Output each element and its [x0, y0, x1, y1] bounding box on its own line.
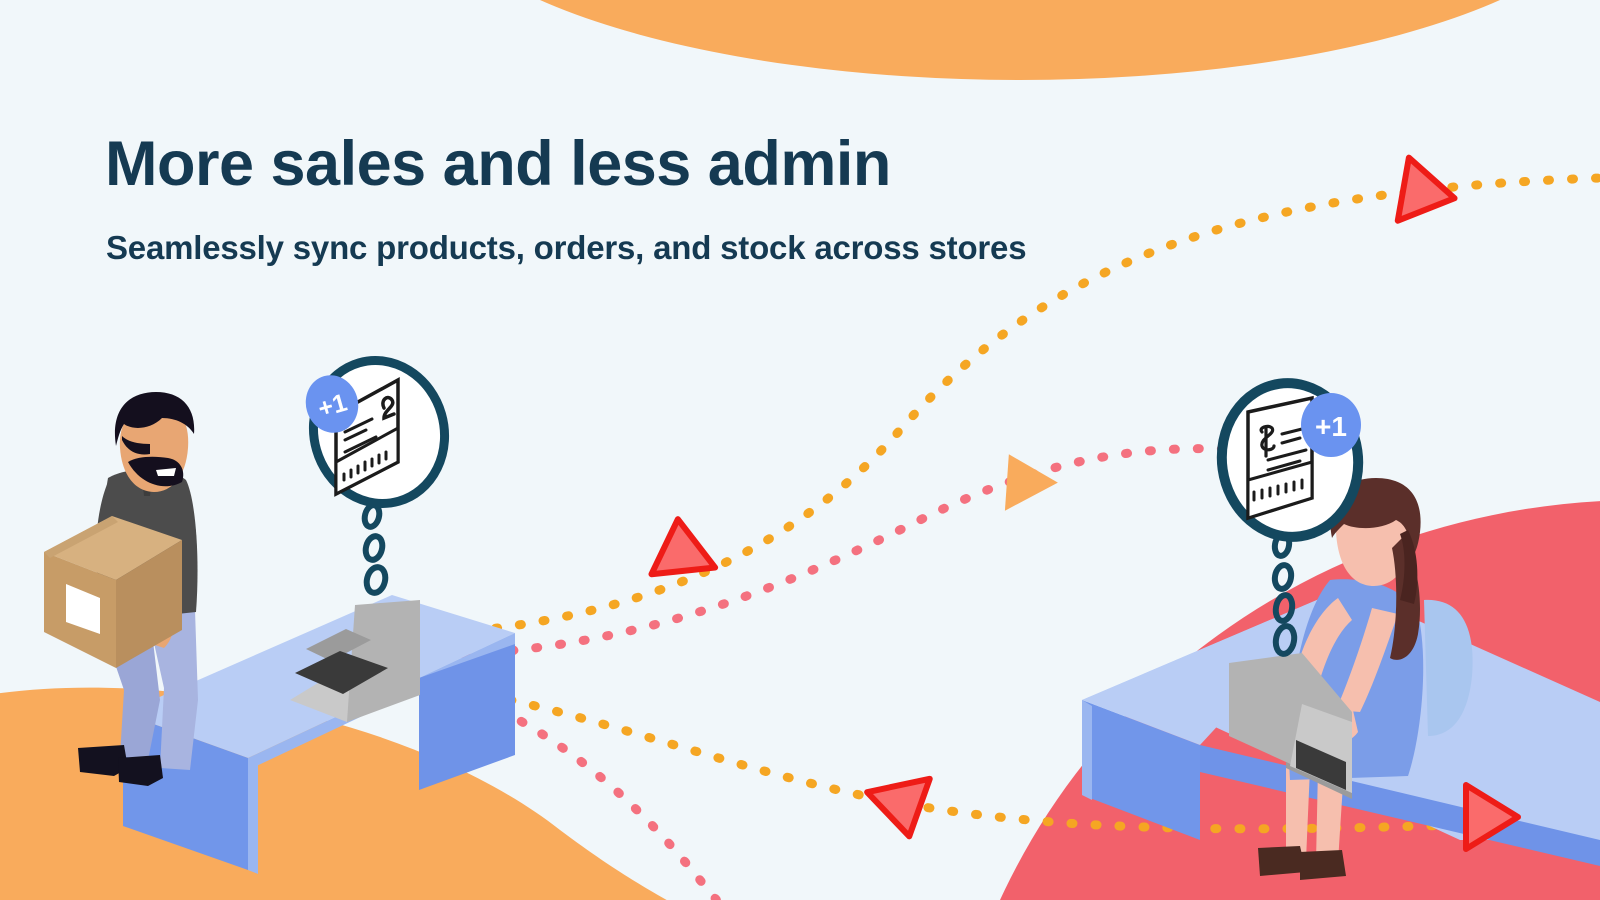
badge-plus-one-right-label: +1 — [1315, 411, 1347, 442]
woman-shoe-back — [1258, 846, 1306, 876]
desk-right-leg-side — [1082, 700, 1092, 800]
hero-illustration: +1 — [0, 0, 1600, 900]
illustration-canvas: +1 — [0, 0, 1600, 900]
man-shoe-front — [118, 755, 163, 786]
desk-left-leg-side — [248, 758, 258, 874]
woman-shoe-front — [1300, 850, 1346, 880]
